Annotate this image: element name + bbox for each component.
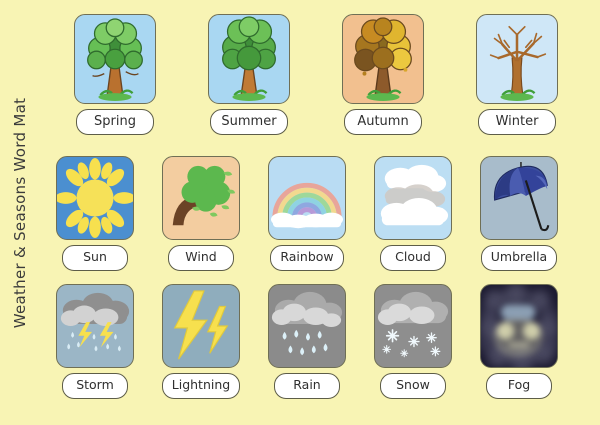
- card-rainbow[interactable]: Rainbow: [254, 156, 360, 282]
- weather-row-two: Storm Lightning: [40, 284, 600, 412]
- card-label: Lightning: [162, 373, 240, 399]
- card-sun[interactable]: Sun: [42, 156, 148, 282]
- sun-icon: [56, 156, 134, 240]
- card-wind[interactable]: Wind: [148, 156, 254, 282]
- rain-cloud-icon: [268, 284, 346, 368]
- card-label: Sun: [62, 245, 128, 271]
- card-cloud[interactable]: Cloud: [360, 156, 466, 282]
- spring-tree-icon: [74, 14, 156, 104]
- umbrella-icon: [480, 156, 558, 240]
- card-label: Storm: [62, 373, 128, 399]
- card-autumn[interactable]: Autumn: [316, 14, 450, 148]
- title-strip: Weather & Seasons Word Mat: [0, 0, 40, 425]
- seasons-row: Spring: [40, 14, 600, 148]
- card-label: Rain: [274, 373, 340, 399]
- card-label: Fog: [486, 373, 552, 399]
- wind-bent-tree-icon: [162, 156, 240, 240]
- card-label: Snow: [380, 373, 446, 399]
- autumn-tree-icon: [342, 14, 424, 104]
- card-umbrella[interactable]: Umbrella: [466, 156, 572, 282]
- rainbow-icon: [268, 156, 346, 240]
- card-snow[interactable]: Snow: [360, 284, 466, 412]
- card-lightning[interactable]: Lightning: [148, 284, 254, 412]
- card-winter[interactable]: Winter: [450, 14, 584, 148]
- weather-row-one: Sun: [40, 156, 600, 282]
- card-label: Autumn: [344, 109, 422, 135]
- winter-bare-tree-icon: [476, 14, 558, 104]
- card-storm[interactable]: Storm: [42, 284, 148, 412]
- lightning-bolt-icon: [162, 284, 240, 368]
- summer-tree-icon: [208, 14, 290, 104]
- card-fog[interactable]: Fog: [466, 284, 572, 412]
- card-label: Winter: [478, 109, 556, 135]
- card-label: Umbrella: [481, 245, 557, 271]
- card-summer[interactable]: Summer: [182, 14, 316, 148]
- card-label: Spring: [76, 109, 154, 135]
- card-spring[interactable]: Spring: [48, 14, 182, 148]
- card-grid: Spring: [40, 0, 600, 425]
- snow-cloud-icon: [374, 284, 452, 368]
- card-rain[interactable]: Rain: [254, 284, 360, 412]
- card-label: Cloud: [380, 245, 446, 271]
- storm-cloud-lightning-icon: [56, 284, 134, 368]
- cloud-icon: [374, 156, 452, 240]
- card-label: Wind: [168, 245, 234, 271]
- fog-headlights-icon: [480, 284, 558, 368]
- word-mat: Weather & Seasons Word Mat: [0, 0, 600, 425]
- page-title: Weather & Seasons Word Mat: [11, 97, 29, 328]
- card-label: Rainbow: [270, 245, 343, 271]
- card-label: Summer: [210, 109, 288, 135]
